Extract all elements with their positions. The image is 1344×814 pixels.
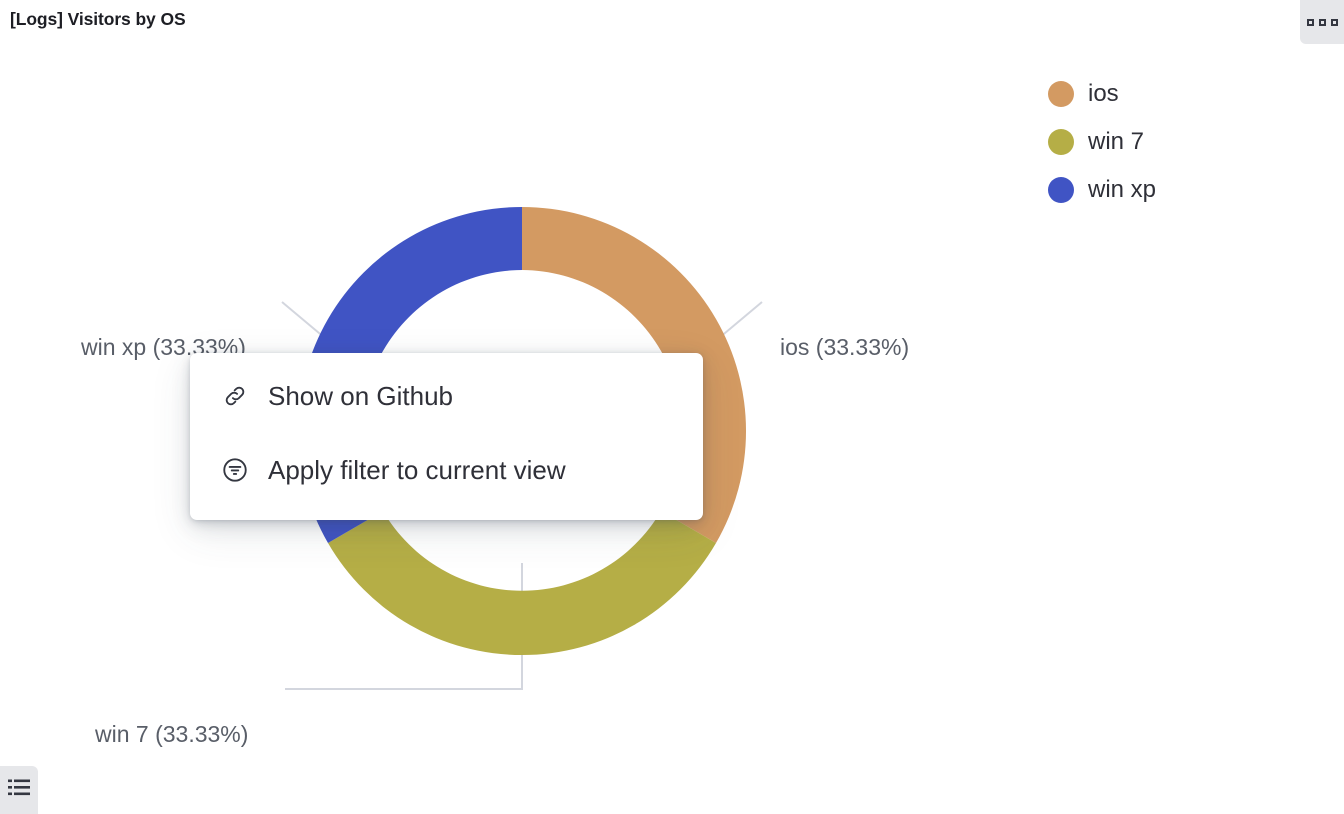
filter-circle-icon: [220, 455, 250, 485]
page-title: [Logs] Visitors by OS: [10, 9, 186, 30]
panel-header: [Logs] Visitors by OS: [0, 0, 1344, 44]
context-menu: Show on Github Apply filter to current v…: [190, 353, 703, 520]
legend-item-win-xp[interactable]: win xp: [1048, 166, 1308, 214]
panel-options-icon: [1307, 19, 1314, 26]
panel-options-icon: [1331, 19, 1338, 26]
legend-dot-icon: [1048, 129, 1074, 155]
legend-list-icon: [8, 778, 30, 803]
link-icon: [220, 381, 250, 411]
legend-item-label: win 7: [1088, 128, 1144, 156]
menu-item-label: Show on Github: [268, 381, 453, 412]
legend-item-label: ios: [1088, 80, 1119, 108]
legend-toggle-button[interactable]: [0, 766, 38, 814]
menu-item-label: Apply filter to current view: [268, 455, 566, 486]
legend-item-label: win xp: [1088, 176, 1156, 204]
legend-dot-icon: [1048, 177, 1074, 203]
legend-item-ios[interactable]: ios: [1048, 70, 1308, 118]
slice-label-ios: ios (33.33%): [780, 334, 909, 361]
panel-options-icon: [1319, 19, 1326, 26]
panel-options-button[interactable]: [1300, 0, 1344, 44]
slice-label-win-7: win 7 (33.33%): [95, 721, 248, 748]
menu-item-show-on-github[interactable]: Show on Github: [190, 359, 703, 433]
menu-item-apply-filter[interactable]: Apply filter to current view: [190, 433, 703, 507]
chart-legend: ios win 7 win xp: [1048, 70, 1308, 214]
legend-dot-icon: [1048, 81, 1074, 107]
legend-item-win-7[interactable]: win 7: [1048, 118, 1308, 166]
